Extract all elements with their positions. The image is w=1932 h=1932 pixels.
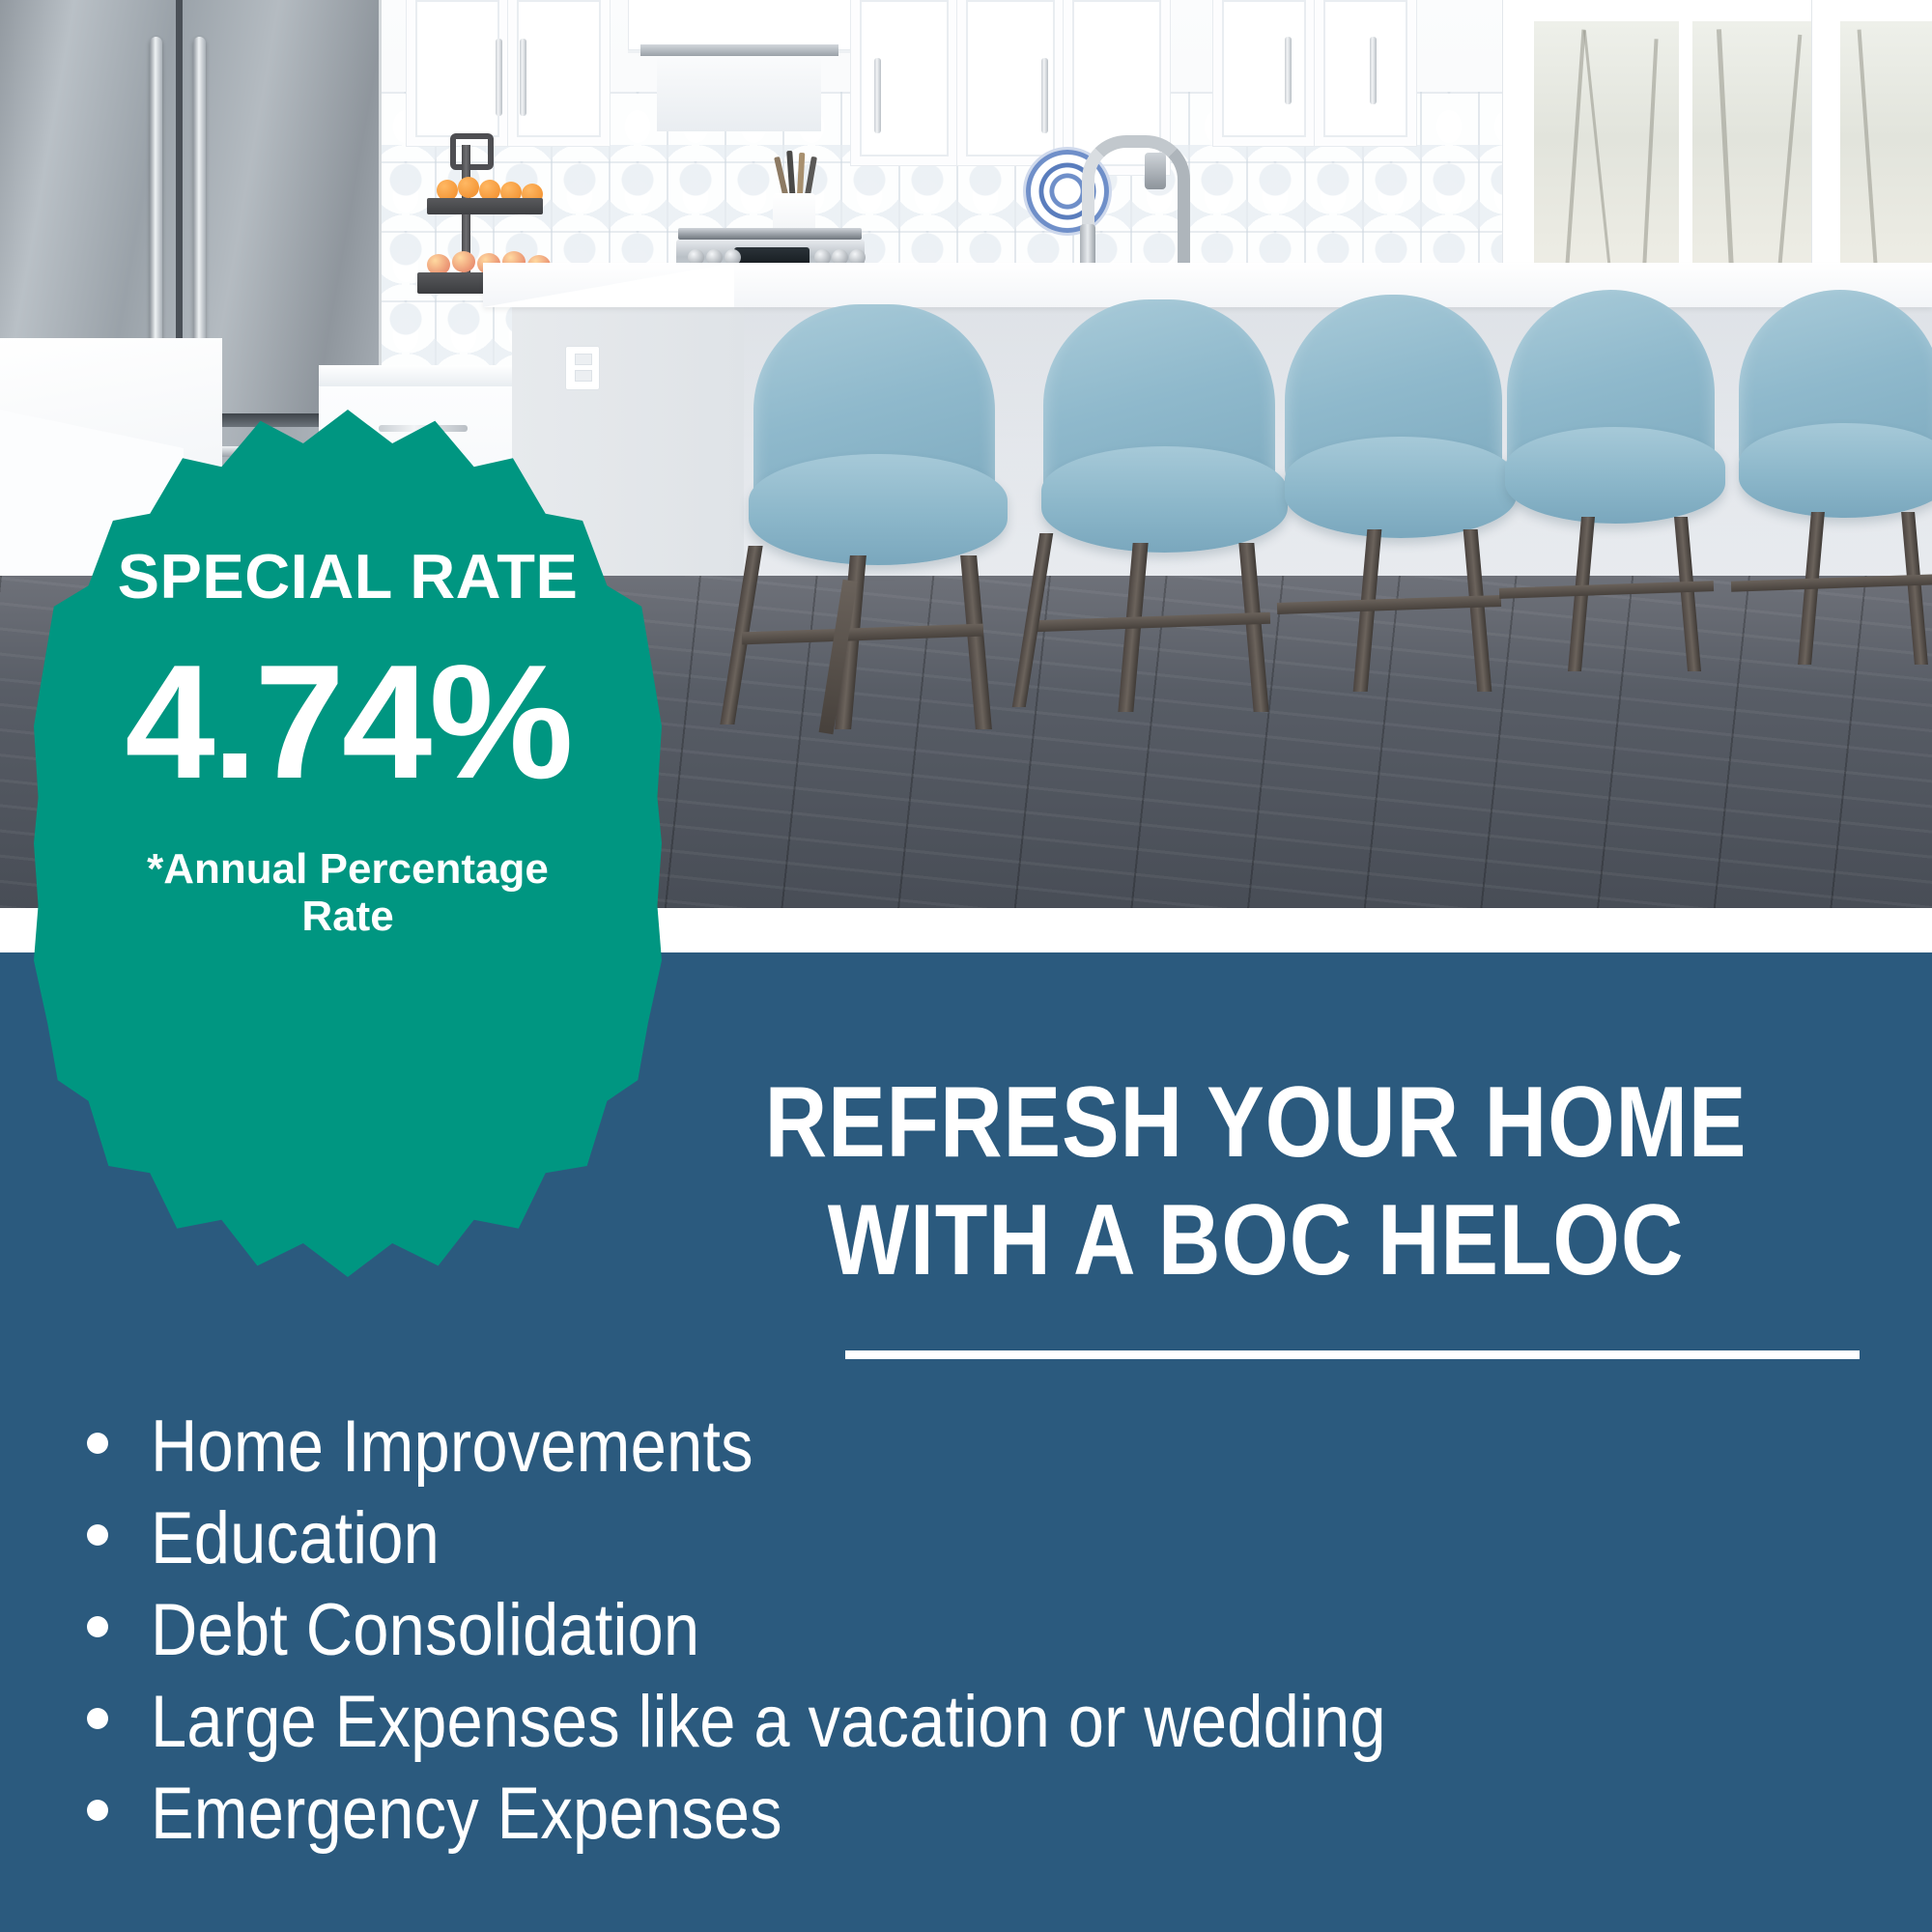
- list-item-label: Debt Consolidation: [151, 1589, 699, 1671]
- badge-content: SPECIAL RATE 4.74% *Annual Percentage Ra…: [34, 410, 662, 1277]
- list-item: Large Expenses like a vacation or weddin…: [58, 1681, 1893, 1763]
- headline-line-1: REFRESH YOUR HOME: [707, 1072, 1804, 1173]
- benefits-list: Home Improvements Education Debt Consoli…: [58, 1406, 1893, 1865]
- bullet-dot-icon: [87, 1800, 108, 1821]
- range-hood-vent: [640, 44, 838, 56]
- badge-footnote: *Annual Percentage Rate: [121, 845, 575, 941]
- badge-title: SPECIAL RATE: [118, 545, 579, 608]
- faucet-sprayer-head: [1145, 153, 1166, 189]
- cabinet-handle: [1370, 37, 1377, 104]
- apple-fruit: [452, 251, 475, 272]
- bullet-dot-icon: [87, 1524, 108, 1546]
- list-item: Education: [58, 1497, 1893, 1579]
- upper-cabinet-door: [850, 0, 958, 166]
- special-rate-badge: SPECIAL RATE 4.74% *Annual Percentage Ra…: [34, 410, 662, 1277]
- refrigerator-handle: [193, 37, 206, 375]
- bullet-dot-icon: [87, 1616, 108, 1637]
- tray-handle: [450, 133, 494, 170]
- orange-fruit: [458, 177, 479, 198]
- faucet-arc: [1082, 135, 1190, 264]
- range-hood-body: [657, 56, 821, 131]
- list-item-label: Large Expenses like a vacation or weddin…: [151, 1681, 1386, 1763]
- bullet-dot-icon: [87, 1708, 108, 1729]
- list-item-label: Home Improvements: [151, 1406, 753, 1488]
- list-item: Debt Consolidation: [58, 1589, 1893, 1671]
- wall-outlet: [565, 346, 600, 390]
- refrigerator-handle: [150, 37, 162, 375]
- range-hood-top: [628, 0, 852, 50]
- headline: REFRESH YOUR HOME WITH A BOC HELOC: [618, 1072, 1893, 1291]
- cabinet-handle: [520, 39, 526, 116]
- cabinet-handle: [1041, 58, 1048, 133]
- headline-line-2: WITH A BOC HELOC: [707, 1190, 1804, 1291]
- cabinet-handle: [874, 58, 881, 133]
- upper-cabinet-door: [956, 0, 1065, 166]
- list-item-label: Emergency Expenses: [151, 1773, 782, 1855]
- window-glass: [1840, 21, 1932, 282]
- upper-cabinet-door: [1212, 0, 1316, 147]
- headline-divider-rule: [845, 1350, 1860, 1359]
- list-item: Home Improvements: [58, 1406, 1893, 1488]
- badge-rate-value: 4.74%: [125, 640, 570, 803]
- tray-upper-tier: [427, 198, 543, 214]
- upper-cabinet-door: [406, 0, 509, 147]
- bullet-dot-icon: [87, 1433, 108, 1454]
- cabinet-handle: [496, 39, 502, 116]
- upper-cabinet-door: [1314, 0, 1417, 147]
- list-item: Emergency Expenses: [58, 1773, 1893, 1855]
- cabinet-handle: [1285, 37, 1292, 104]
- list-item-label: Education: [151, 1497, 440, 1579]
- promo-graphic: REFRESH YOUR HOME WITH A BOC HELOC Home …: [0, 0, 1932, 1932]
- cooktop: [678, 228, 862, 240]
